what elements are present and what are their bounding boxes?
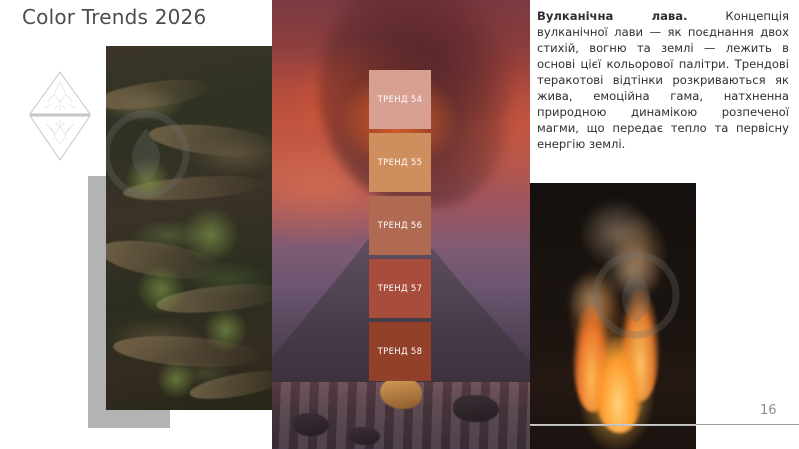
swatch-trend-56[interactable]: ТРЕНД 56 [369, 196, 431, 255]
fire-flames-photo [530, 183, 696, 449]
article-body: Концепція вулканічної лави — як поєднанн… [537, 9, 789, 151]
swatch-trend-57[interactable]: ТРЕНД 57 [369, 259, 431, 318]
swatch-trend-55[interactable]: ТРЕНД 55 [369, 133, 431, 192]
article-text: Вулканічна лава. Концепція вулканічної л… [537, 8, 789, 152]
swatch-label: ТРЕНД 58 [369, 347, 431, 357]
swatch-label: ТРЕНД 56 [369, 221, 431, 231]
forest-roots-photo [106, 46, 272, 410]
double-triangle-mark [24, 58, 96, 166]
page-number: 16 [760, 403, 777, 418]
slide-canvas: Color Trends 2026 [0, 0, 799, 449]
swatch-label: ТРЕНД 55 [369, 158, 431, 168]
page-title: Color Trends 2026 [22, 5, 206, 29]
swatch-trend-54[interactable]: ТРЕНД 54 [369, 70, 431, 129]
stock-photo-watermark [106, 104, 196, 204]
swatch-trend-58[interactable]: ТРЕНД 58 [369, 322, 431, 381]
swatch-label: ТРЕНД 54 [369, 95, 431, 105]
stock-photo-watermark [586, 245, 686, 345]
swatch-label: ТРЕНД 57 [369, 284, 431, 294]
article-lead: Вулканічна лава. [537, 9, 688, 23]
color-swatch-list: ТРЕНД 54 ТРЕНД 55 ТРЕНД 56 ТРЕНД 57 ТРЕН… [369, 70, 431, 385]
footer-rule [696, 424, 799, 425]
footer-rule-left [530, 424, 696, 425]
